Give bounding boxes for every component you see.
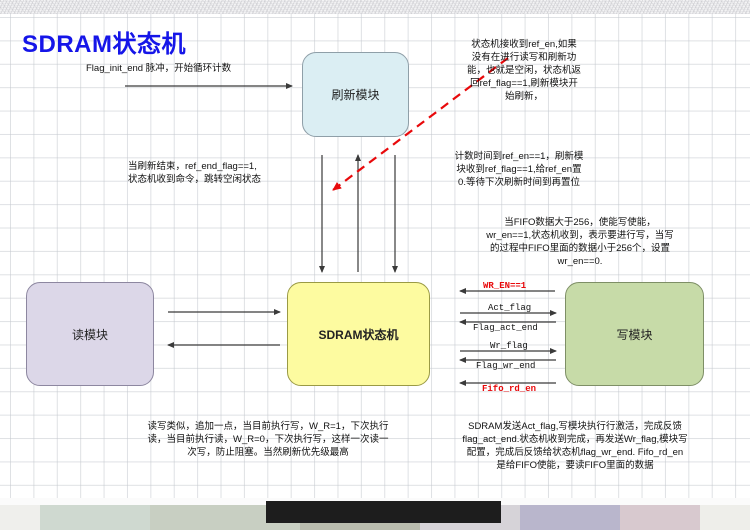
page-title: SDRAM状态机 <box>22 24 186 59</box>
module-sdram-state-machine[interactable]: SDRAM状态机 <box>287 282 430 386</box>
module-read[interactable]: 读模块 <box>26 282 154 386</box>
note-write-sequence: SDRAM发送Act_flag,写模块执行行激活，完成反馈 flag_act_e… <box>430 420 720 472</box>
bottom-occlusion-bar <box>266 501 501 523</box>
signal-label-flag-act-end: Flag_act_end <box>473 323 538 333</box>
page-edge-texture-top <box>0 0 750 14</box>
module-write-label: 写模块 <box>616 326 652 343</box>
note-flag-init-end: Flag_init_end 脉冲，开始循环计数 <box>86 62 316 75</box>
diagram-canvas: SDRAM状态机 <box>0 0 750 530</box>
note-ref-en: 状态机接收到ref_en,如果 没有在进行读写和刷新功 能，也就是空闲，状态机返… <box>424 38 624 103</box>
module-fsm-label: SDRAM状态机 <box>319 326 399 343</box>
signal-label-act-flag: Act_flag <box>488 303 531 313</box>
signal-label-flag-wr-end: Flag_wr_end <box>476 361 535 371</box>
note-refresh-end: 当刷新结束，ref_end_flag==1, 状态机收到命令，跳转空闲状态 <box>128 160 328 186</box>
note-read-write-rule: 读写类似，追加一点，当目前执行写，W_R=1，下次执行 读，当目前执行读，W_R… <box>118 420 418 459</box>
module-refresh[interactable]: 刷新模块 <box>302 52 409 137</box>
signal-label-wr-en: WR_EN==1 <box>483 281 526 291</box>
note-count-time: 计数时间到ref_en==1，刷新模 块收到ref_flag==1,给ref_e… <box>404 150 634 189</box>
module-refresh-label: 刷新模块 <box>331 86 379 103</box>
module-write[interactable]: 写模块 <box>565 282 704 386</box>
signal-label-wr-flag: Wr_flag <box>490 341 528 351</box>
note-fifo-threshold: 当FIFO数据大于256，使能写使能， wr_en==1,状态机收到，表示要进行… <box>430 216 730 268</box>
module-read-label: 读模块 <box>72 326 108 343</box>
signal-label-fifo-rd-en: Fifo_rd_en <box>482 384 536 394</box>
